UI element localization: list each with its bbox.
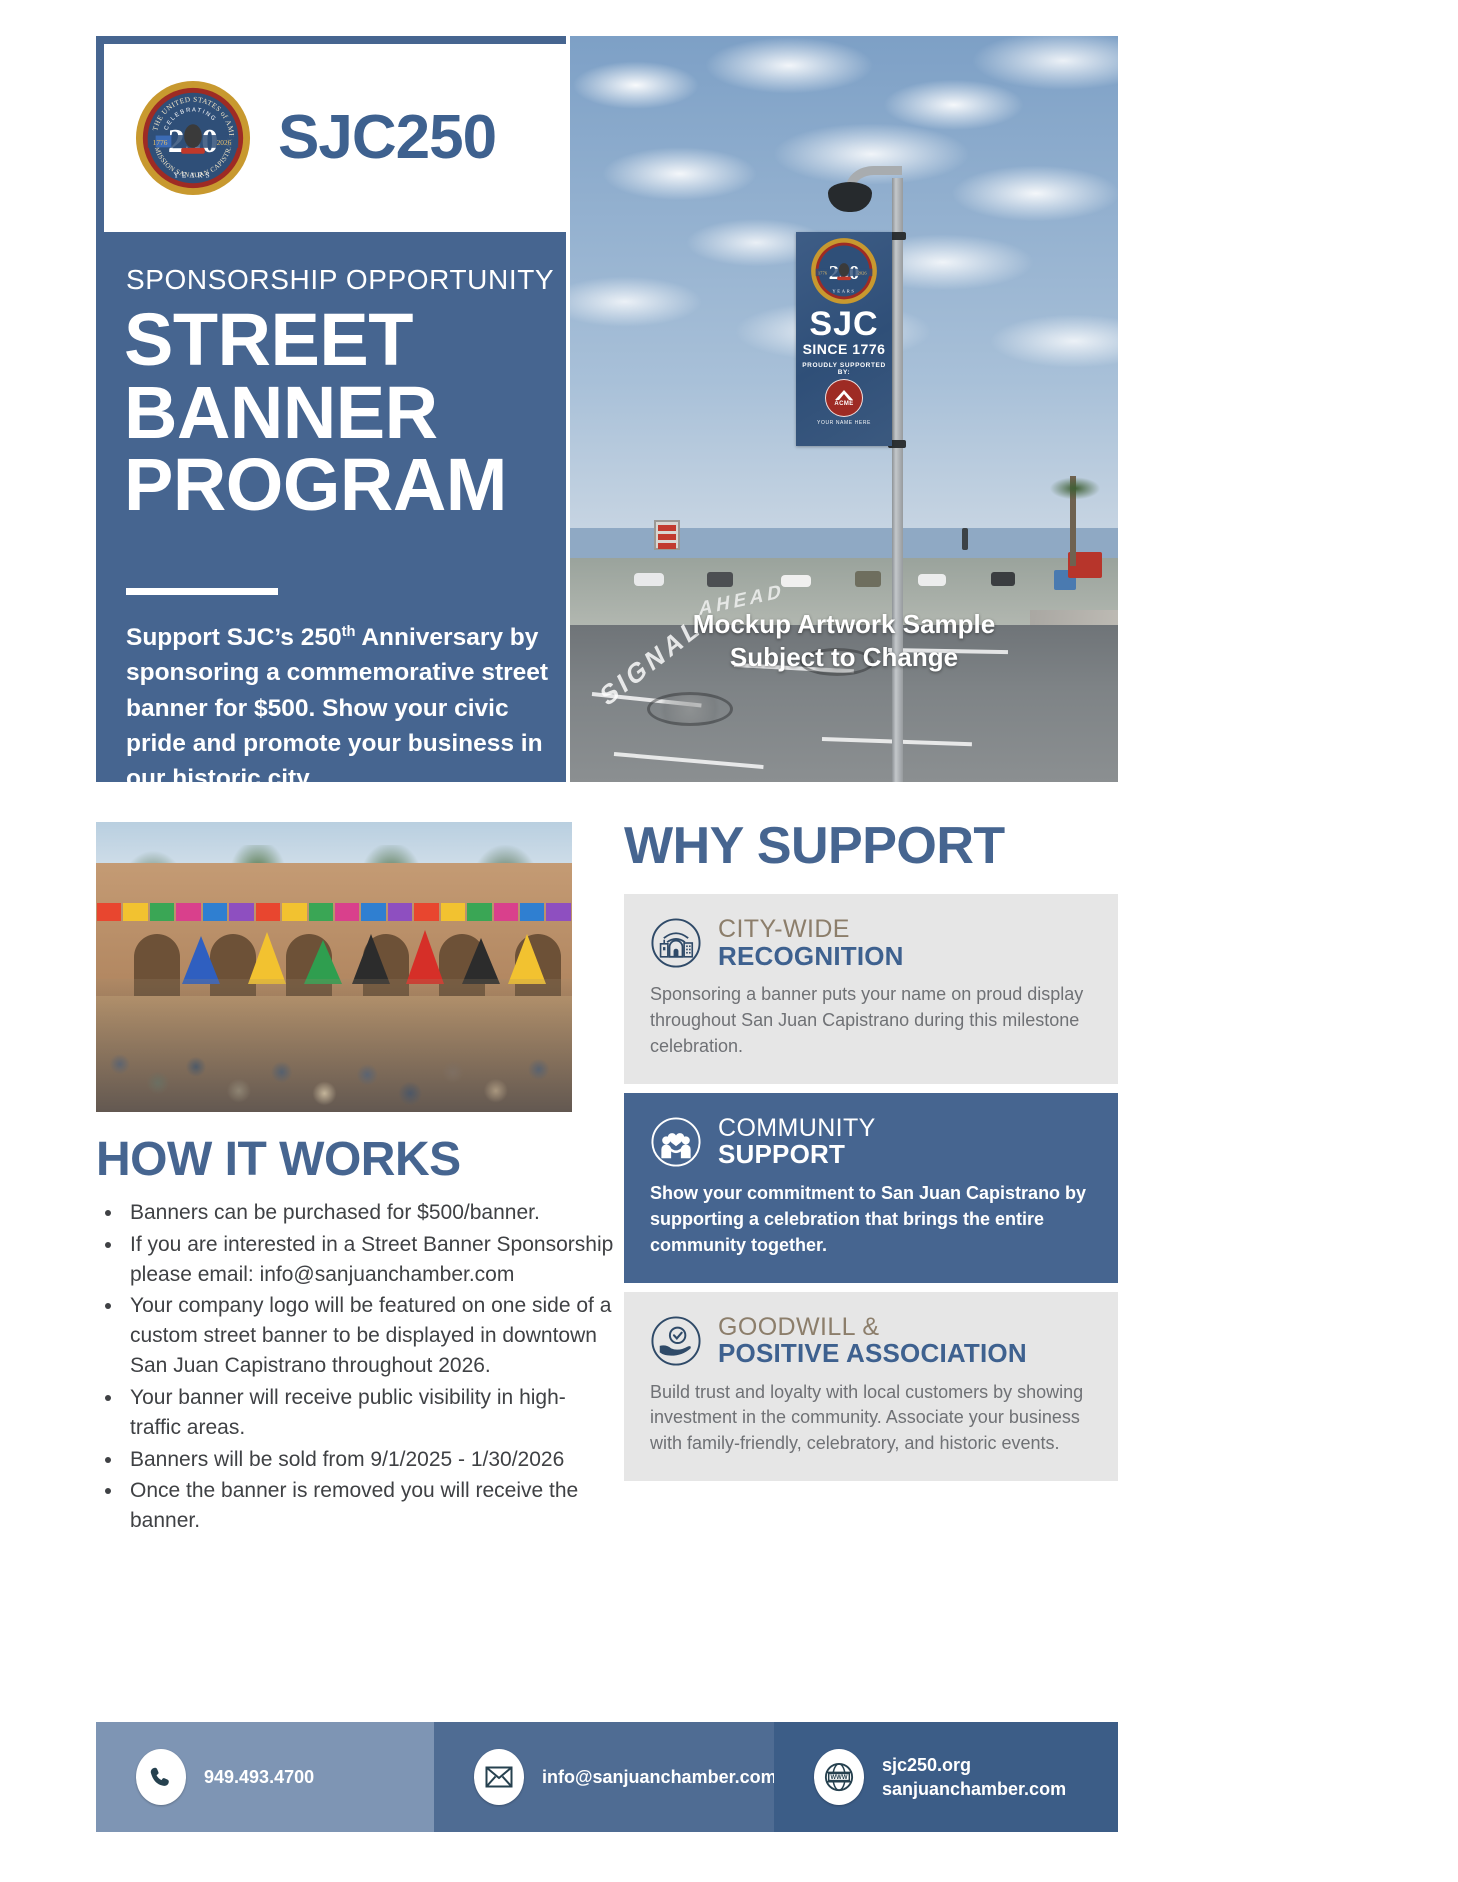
phone-icon [148,1764,174,1790]
svg-text:YEARS: YEARS [832,289,855,294]
dancer-figure [462,938,500,984]
hero-title-line-2: BANNER [124,371,438,454]
sponsor-logo-label: ACME [834,401,853,407]
audience-crowd [96,979,572,1112]
hero-blue-panel: THE UNITED STATES of AMERICA MISSION SAN… [96,36,566,782]
benefit-card-community: COMMUNITY SUPPORT Show your commitment t… [624,1093,1118,1283]
envelope-icon [485,1766,513,1788]
list-item: If you are interested in a Street Banner… [124,1230,616,1290]
footer-email-column[interactable]: info@sanjuanchamber.com [434,1722,774,1832]
svg-text:2026: 2026 [858,270,868,275]
hero-lede-ordinal: th [342,624,356,640]
footer-phone-column[interactable]: 949.493.4700 [96,1722,434,1832]
how-it-works-heading: HOW IT WORKS [96,1132,461,1187]
card-body: Build trust and loyalty with local custo… [650,1380,1090,1458]
list-item: Banners can be purchased for $500/banner… [124,1198,616,1228]
why-support-cards: CITY-WIDE RECOGNITION Sponsoring a banne… [624,894,1118,1490]
card-title-bold: RECOGNITION [718,943,904,971]
hero-title-line-1: STREET [124,298,413,381]
footer-phone-text: 949.493.4700 [204,1765,314,1789]
sponsor-logo-placeholder: ACME [825,379,863,417]
card-titles: CITY-WIDE RECOGNITION [718,916,904,970]
benefit-card-recognition: CITY-WIDE RECOGNITION Sponsoring a banne… [624,894,1118,1084]
footer-email-text: info@sanjuanchamber.com [542,1765,777,1789]
contact-footer: 949.493.4700 info@sanjuanchamber.com WWW… [96,1722,1118,1832]
dancer-figure [352,934,390,984]
fiesta-dancers-photo [96,822,572,1112]
card-header: GOODWILL & POSITIVE ASSOCIATION [650,1314,1090,1368]
papel-picado-banners [96,903,572,920]
community-heart-people-icon [650,1116,702,1168]
hero-title-line-3: PROGRAM [124,443,507,526]
globe-www-icon-badge: WWW [814,1749,864,1805]
banner-since-text: SINCE 1776 [803,341,886,357]
footer-web-line-2: sanjuanchamber.com [882,1777,1066,1801]
svg-text:WWW: WWW [831,1775,848,1781]
logo-lockup: THE UNITED STATES of AMERICA MISSION SAN… [104,44,566,232]
footer-web-line-1: sjc250.org [882,1753,1066,1777]
street-banner-photo: SIGNAL AHEAD 250 1776 2026 [570,36,1118,782]
card-header: CITY-WIDE RECOGNITION [650,916,1090,970]
footer-web-text: sjc250.org sanjuanchamber.com [882,1753,1066,1802]
banner-mockup: 250 1776 2026 YEARS SJC SINCE 1776 PROUD… [796,232,892,446]
banner-sjc-text: SJC [809,308,878,340]
svg-text:1776: 1776 [153,138,168,147]
card-body: Show your commitment to San Juan Capistr… [650,1181,1090,1259]
globe-www-icon: WWW [824,1762,854,1792]
list-item: Banners will be sold from 9/1/2025 - 1/3… [124,1445,616,1475]
dancer-skirt [248,932,286,984]
traffic-light [962,528,968,550]
acme-roof-icon [834,389,854,401]
your-name-here-text: YOUR NAME HERE [817,420,871,426]
list-item: Once the banner is removed you will rece… [124,1476,616,1536]
dancer-skirt [182,936,220,984]
card-header: COMMUNITY SUPPORT [650,1115,1090,1169]
phone-icon-badge [136,1749,186,1805]
svg-text:YEARS: YEARS [173,170,212,179]
brand-wordmark: SJC250 [278,107,496,169]
card-body: Sponsoring a banner puts your name on pr… [650,982,1090,1060]
card-title-bold: POSITIVE ASSOCIATION [718,1340,1027,1368]
footer-web-column[interactable]: WWW sjc250.org sanjuanchamber.com [774,1722,1118,1832]
sjc250-seal-icon: THE UNITED STATES of AMERICA MISSION SAN… [134,79,252,197]
divider-rule [126,588,278,595]
card-titles: COMMUNITY SUPPORT [718,1115,876,1169]
envelope-icon-badge [474,1749,524,1805]
how-it-works-list: Banners can be purchased for $500/banner… [96,1198,616,1538]
list-item: Your banner will receive public visibili… [124,1383,616,1443]
hero-eyebrow: SPONSORSHIP OPPORTUNITY [126,264,554,296]
svg-text:1776: 1776 [818,270,828,275]
hero-title: STREET BANNER PROGRAM [124,304,507,522]
lamp-post [892,178,903,782]
banner-proudly-text: PROUDLY SUPPORTED BY: [796,362,892,376]
hand-holding-check-icon [650,1315,702,1367]
banner-seal-icon: 250 1776 2026 YEARS [810,237,878,305]
card-title-light: GOODWILL & [718,1314,1027,1341]
hero-lede-pre: Support SJC’s 250 [126,624,342,651]
hero-lede: Support SJC’s 250th Anniversary by spons… [126,620,556,796]
card-title-bold: SUPPORT [718,1141,876,1169]
gas-price-sign [654,520,680,550]
distant-cars [581,569,1107,606]
why-support-heading: WHY SUPPORT [624,816,1005,876]
city-mission-signal-icon [650,917,702,969]
dancer-skirt [406,930,444,984]
photo-caption: Mockup Artwork Sample Subject to Change [570,608,1118,675]
card-title-light: CITY-WIDE [718,916,904,943]
card-title-light: COMMUNITY [718,1115,876,1142]
dancer-skirt [508,934,546,984]
benefit-card-goodwill: GOODWILL & POSITIVE ASSOCIATION Build tr… [624,1292,1118,1482]
card-titles: GOODWILL & POSITIVE ASSOCIATION [718,1314,1027,1368]
photo-caption-line-1: Mockup Artwork Sample [570,608,1118,641]
list-item: Your company logo will be featured on on… [124,1291,616,1380]
hero-section: THE UNITED STATES of AMERICA MISSION SAN… [96,36,1118,782]
svg-text:2026: 2026 [217,138,232,147]
photo-caption-line-2: Subject to Change [570,641,1118,674]
